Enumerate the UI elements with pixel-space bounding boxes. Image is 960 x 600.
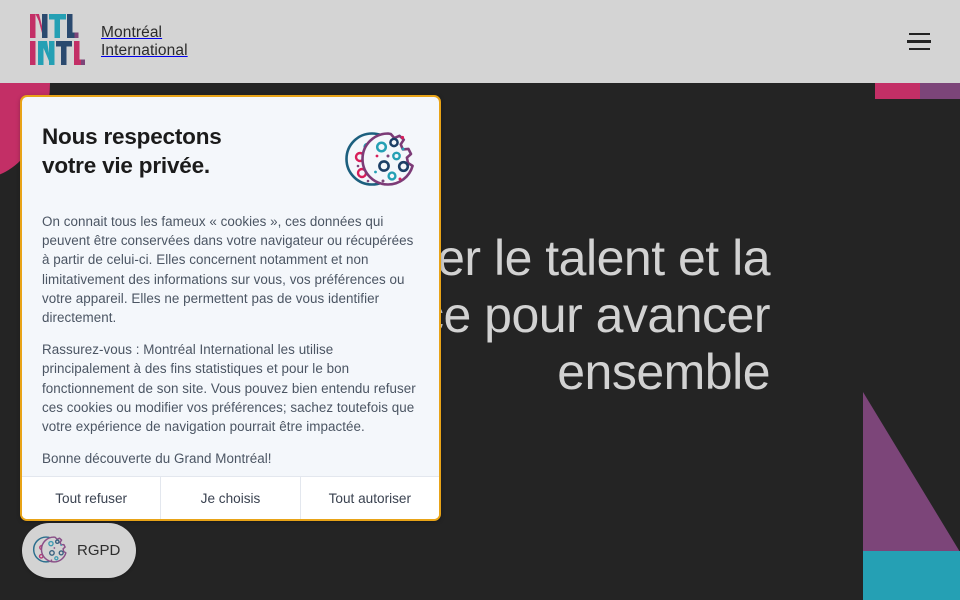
cookie-dialog-body: Nous respectons votre vie privée. xyxy=(22,97,439,476)
cookie-dialog-actions: Tout refuser Je choisis Tout autoriser xyxy=(22,476,439,519)
cookie-icon xyxy=(341,119,419,197)
hamburger-bar-top xyxy=(909,33,930,36)
reject-all-button[interactable]: Tout refuser xyxy=(22,477,160,519)
brand-name: Montréal International xyxy=(101,24,188,60)
decoration-bar-purple xyxy=(920,83,960,99)
cookie-paragraph-2: Rassurez-vous : Montréal International l… xyxy=(42,340,419,436)
mtl-intl-logo-icon xyxy=(30,12,92,72)
cookie-icon xyxy=(31,530,69,571)
hamburger-menu-icon[interactable] xyxy=(902,25,936,59)
hamburger-bar-bottom xyxy=(909,48,930,51)
decoration-triangle-purple xyxy=(863,392,960,552)
site-header: Montréal International xyxy=(0,0,960,83)
decoration-bar-pink xyxy=(875,83,920,99)
hamburger-bar-middle xyxy=(907,40,931,43)
cookie-paragraph-1: On connait tous les fameux « cookies », … xyxy=(42,212,419,327)
cookie-consent-dialog: Nous respectons votre vie privée. xyxy=(20,95,441,521)
rgpd-badge-label: RGPD xyxy=(77,542,120,559)
brand-logo-link[interactable]: Montréal International xyxy=(30,12,188,72)
page-root: Attirer le talent et la connaissance pou… xyxy=(0,0,960,600)
cookie-dialog-title: Nous respectons votre vie privée. xyxy=(42,119,222,180)
accept-all-button[interactable]: Tout autoriser xyxy=(300,477,439,519)
cookie-paragraph-3: Bonne découverte du Grand Montréal! xyxy=(42,449,419,468)
choose-preferences-button[interactable]: Je choisis xyxy=(160,477,299,519)
rgpd-settings-badge[interactable]: RGPD xyxy=(22,523,136,578)
decoration-rect-teal xyxy=(863,551,960,600)
cookie-dialog-header: Nous respectons votre vie privée. xyxy=(42,119,419,197)
